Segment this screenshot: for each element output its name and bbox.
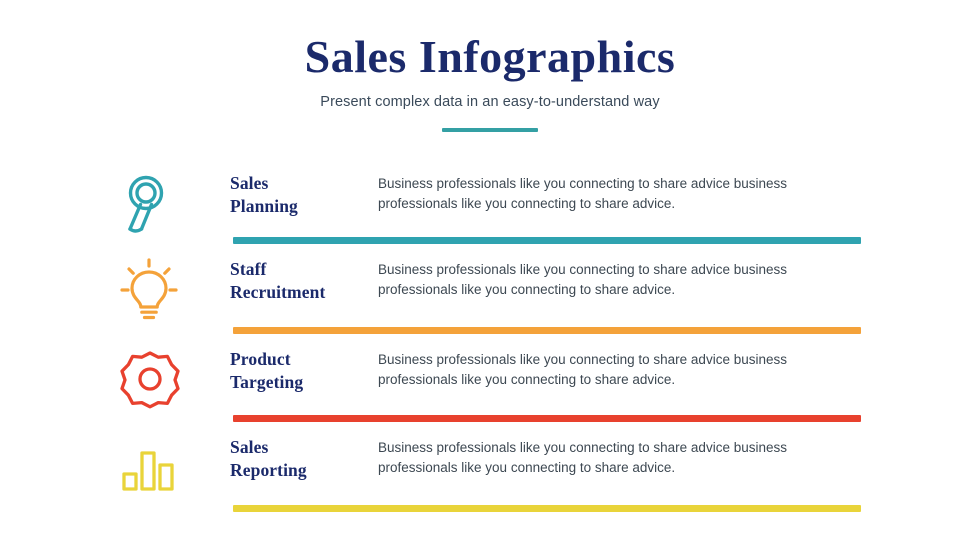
list-item[interactable]: Staff Recruitment Business professionals… bbox=[0, 244, 980, 334]
list-item-label-line2: Planning bbox=[230, 195, 378, 218]
list-item-label-line1: Product bbox=[230, 348, 378, 371]
list-item-description: Business professionals like you connecti… bbox=[378, 158, 980, 213]
row-divider bbox=[233, 237, 861, 244]
list-item[interactable]: Product Targeting Business professionals… bbox=[0, 334, 980, 422]
row-divider bbox=[233, 505, 861, 512]
magnifier-icon bbox=[118, 158, 230, 248]
list-item-label-line1: Sales bbox=[230, 172, 378, 195]
list-item-description: Business professionals like you connecti… bbox=[378, 334, 980, 389]
list-item-label: Staff Recruitment bbox=[230, 244, 378, 304]
list-item-label-line2: Reporting bbox=[230, 459, 378, 482]
infographic-rows: Sales Planning Business professionals li… bbox=[0, 158, 980, 512]
list-item-label: Sales Planning bbox=[230, 158, 378, 218]
lightbulb-icon bbox=[118, 244, 230, 334]
list-item-description: Business professionals like you connecti… bbox=[378, 244, 980, 299]
list-item-label-line2: Targeting bbox=[230, 371, 378, 394]
list-item[interactable]: Sales Reporting Business professionals l… bbox=[0, 422, 980, 512]
row-divider bbox=[233, 327, 861, 334]
bar-chart-icon bbox=[118, 422, 230, 512]
list-item-description: Business professionals like you connecti… bbox=[378, 422, 980, 477]
list-item-label-line2: Recruitment bbox=[230, 281, 378, 304]
slide-canvas: Sales Infographics Present complex data … bbox=[0, 0, 980, 551]
list-item-label: Product Targeting bbox=[230, 334, 378, 394]
page-subtitle: Present complex data in an easy-to-under… bbox=[0, 94, 980, 110]
list-item-label: Sales Reporting bbox=[230, 422, 378, 482]
page-title: Sales Infographics bbox=[0, 32, 980, 83]
title-underline bbox=[442, 128, 538, 132]
row-divider bbox=[233, 415, 861, 422]
list-item-label-line1: Sales bbox=[230, 436, 378, 459]
list-item-label-line1: Staff bbox=[230, 258, 378, 281]
list-item[interactable]: Sales Planning Business professionals li… bbox=[0, 158, 980, 244]
slide-header: Sales Infographics Present complex data … bbox=[0, 0, 980, 132]
gear-icon bbox=[118, 334, 230, 424]
